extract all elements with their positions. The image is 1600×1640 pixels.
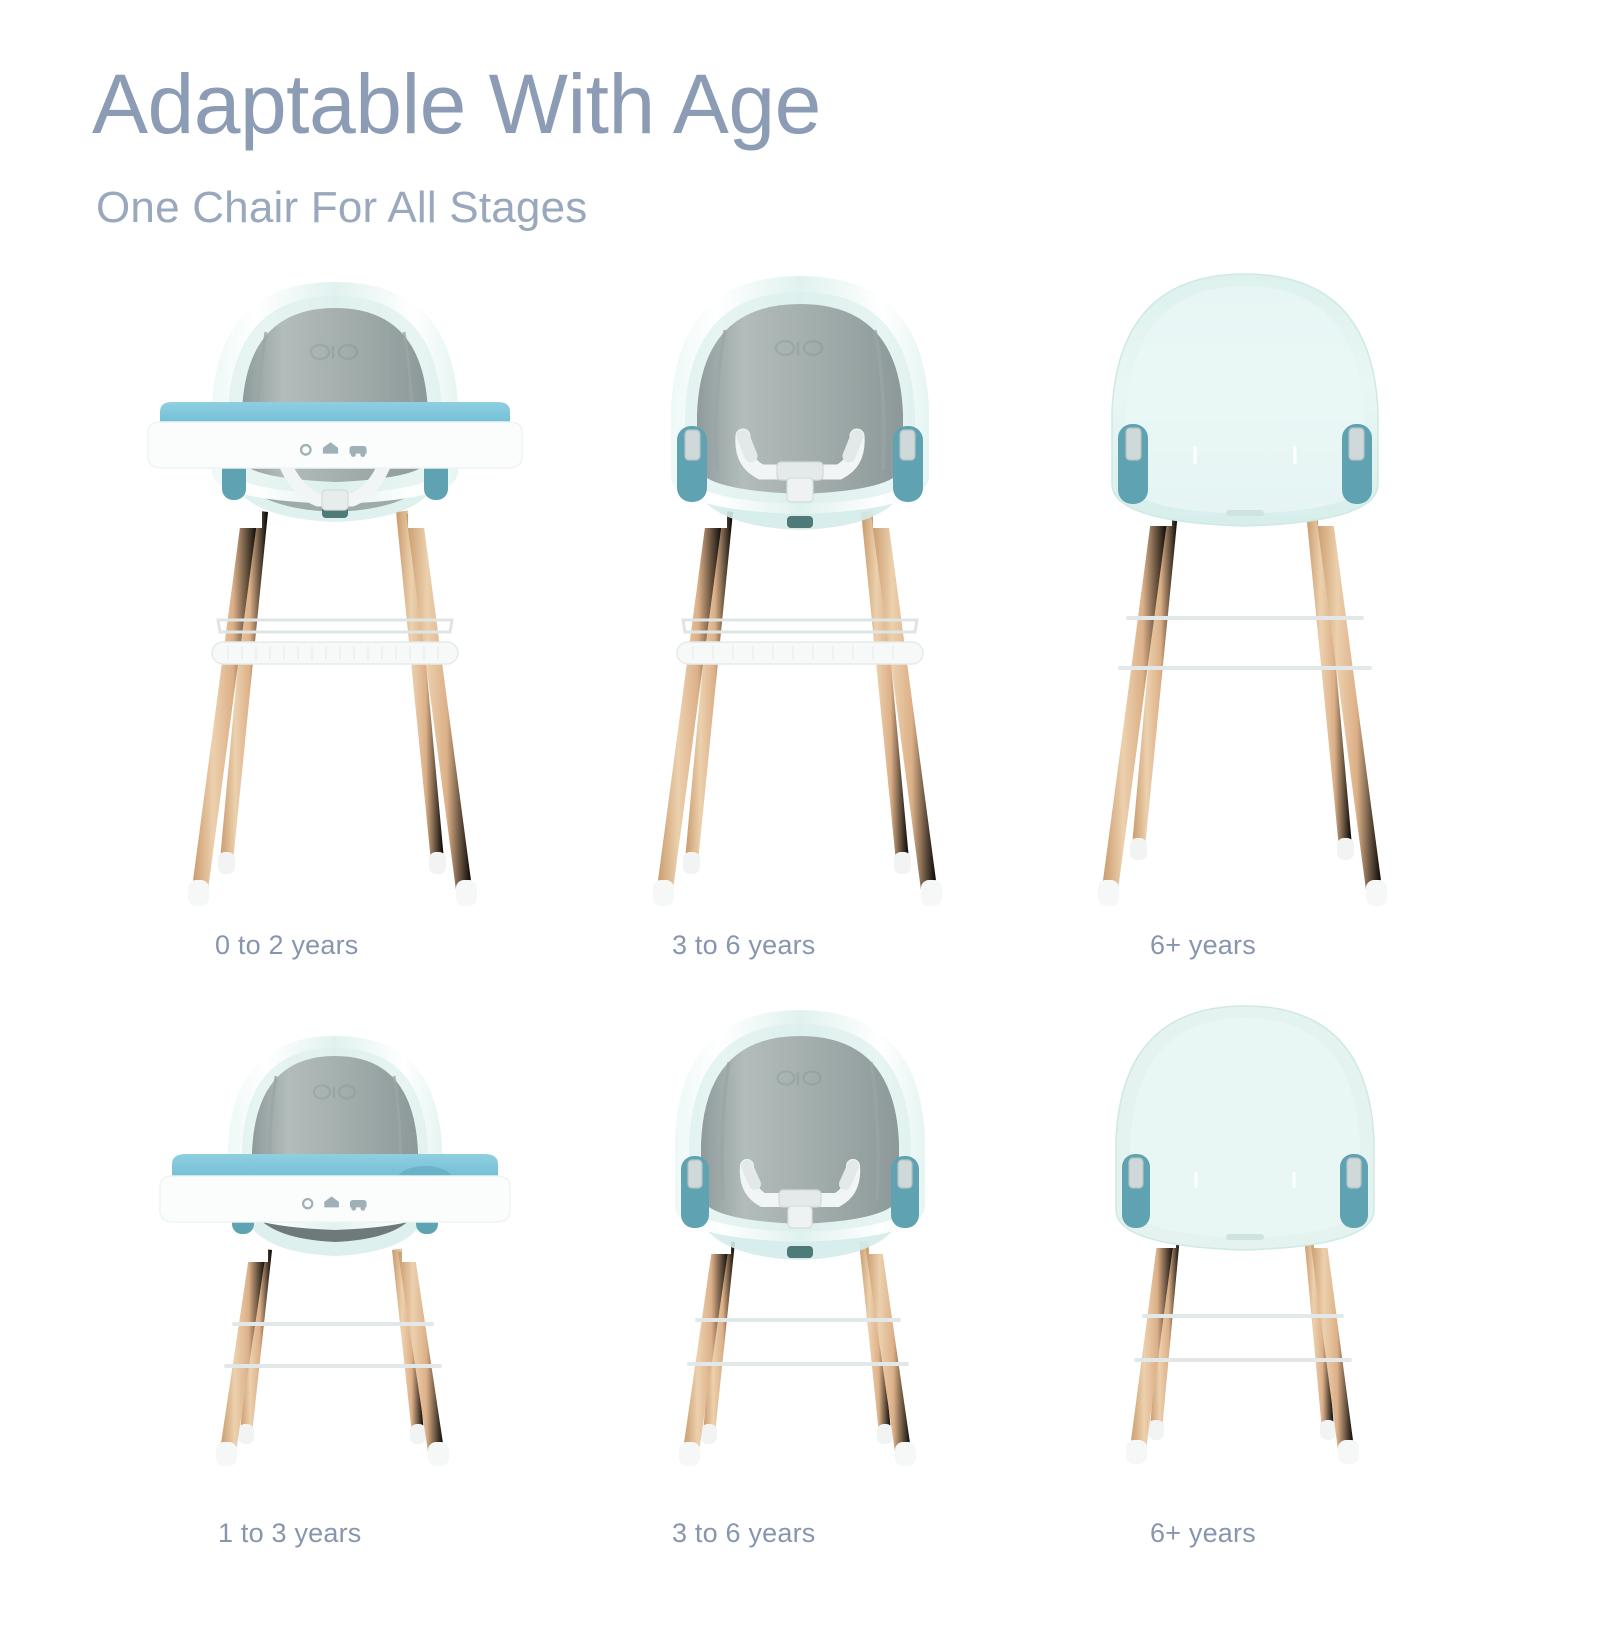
- feeding-tray: [160, 1154, 510, 1222]
- chair-legs-rear: [218, 510, 446, 874]
- chair-legs-rear: [1130, 510, 1354, 860]
- chair-stage-grid: 0 to 2 years: [0, 260, 1600, 1600]
- stage-cell-0-2-years: 0 to 2 years: [100, 260, 570, 980]
- chair-legs-rear: [701, 1240, 893, 1444]
- chair-shell: [1116, 1006, 1374, 1250]
- page-title: Adaptable With Age: [92, 62, 821, 146]
- feeding-tray: [148, 402, 522, 468]
- highchair-illustration-tray-tall: [100, 260, 570, 920]
- chair-shell: [1112, 274, 1378, 526]
- chair-legs-rear: [238, 1248, 426, 1444]
- stage-cell-3-6-years: 3 to 6 years: [565, 260, 1035, 980]
- chair-legs-rear: [1148, 1234, 1336, 1440]
- stage-cell-6-plus-years-low: 6+ years: [1010, 980, 1480, 1600]
- stage-cell-6-plus-years: 6+ years: [1010, 260, 1480, 980]
- infographic-page: Adaptable With Age One Chair For All Sta…: [0, 0, 1600, 1600]
- stage-cell-1-3-years: 1 to 3 years: [100, 980, 570, 1600]
- highchair-illustration-bare-tall: [1010, 260, 1480, 920]
- stage-row-short: 1 to 3 years: [0, 980, 1600, 1600]
- stage-cell-3-6-years-low: 3 to 6 years: [565, 980, 1035, 1600]
- stage-caption: 6+ years: [1010, 1518, 1600, 1549]
- highchair-illustration-harness-tall: [565, 260, 1035, 920]
- chair-legs-rear: [683, 510, 911, 874]
- stage-caption: 6+ years: [1010, 930, 1600, 961]
- page-subtitle: One Chair For All Stages: [96, 186, 587, 230]
- stage-row-tall: 0 to 2 years: [0, 260, 1600, 980]
